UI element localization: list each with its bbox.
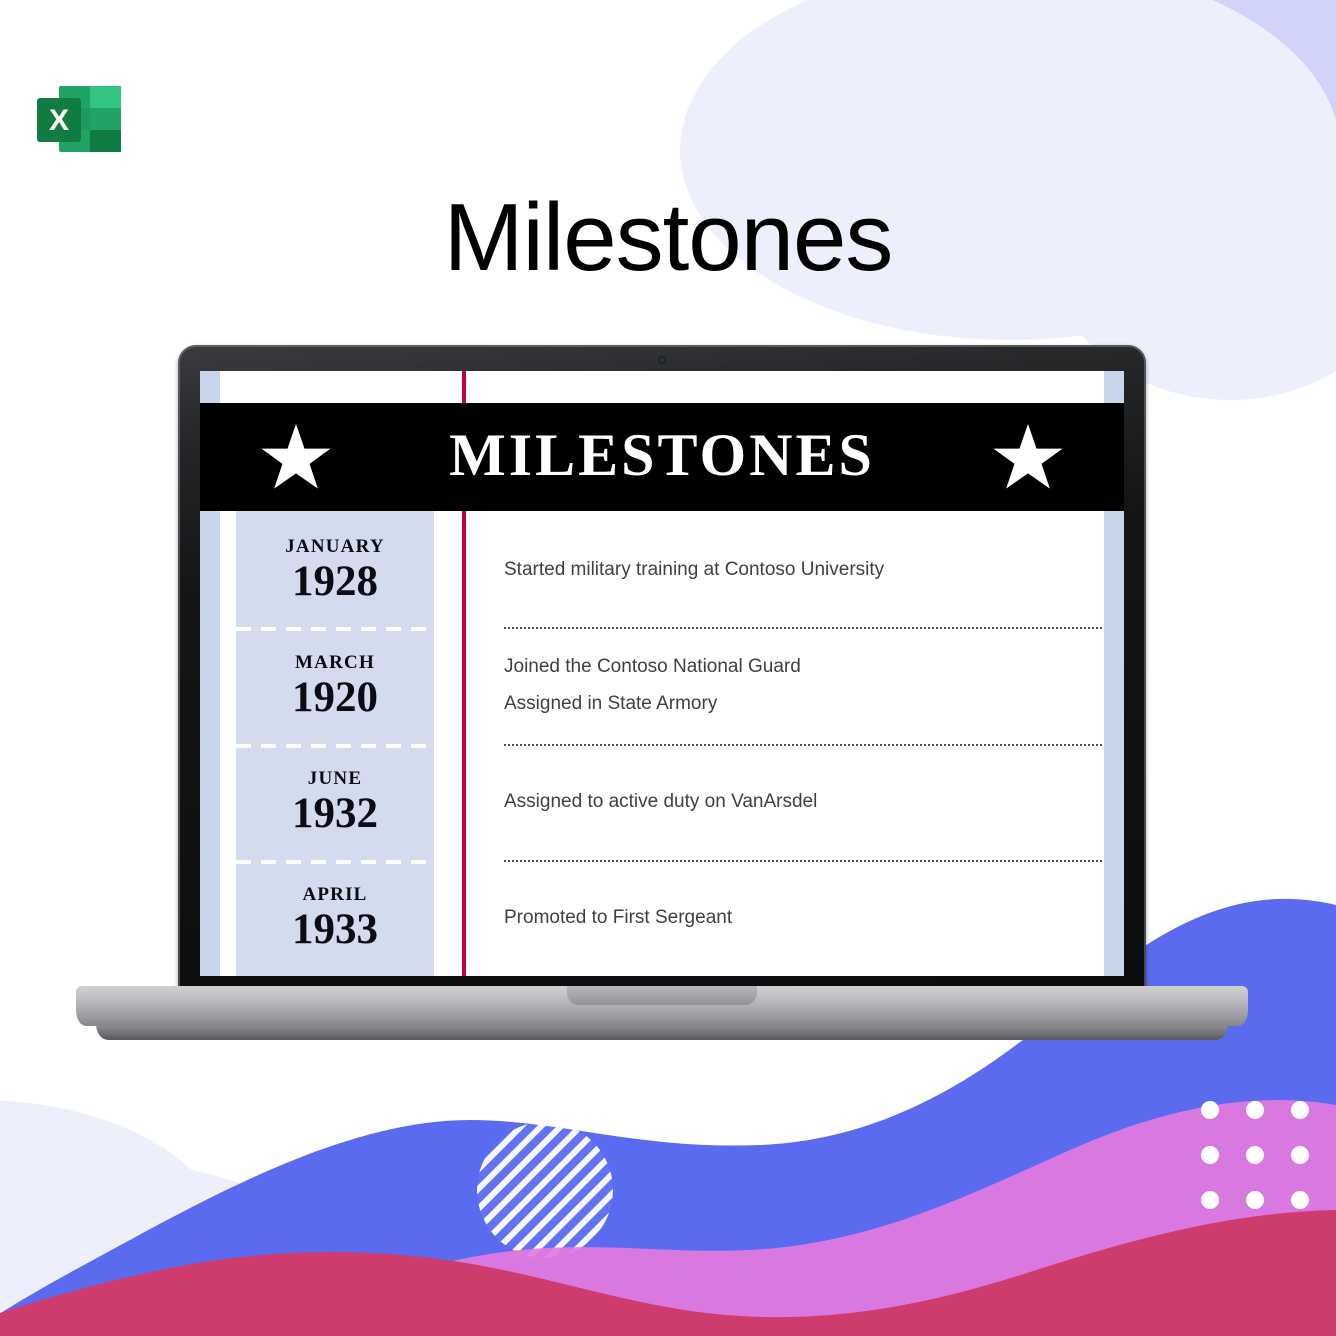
svg-text:X: X [49, 104, 69, 137]
star-icon-left [260, 422, 332, 492]
milestones-slide: MILESTONES JANUARY 1928 [200, 371, 1124, 976]
event-cell: Joined the Contoso National Guard Assign… [504, 627, 1102, 743]
star-icon-right [992, 422, 1064, 492]
laptop-base-top [76, 986, 1248, 1026]
event-cell: Promoted to First Sergeant [504, 860, 1102, 976]
date-cell: MARCH 1920 [236, 627, 434, 743]
date-cell: JUNE 1932 [236, 744, 434, 860]
date-rail: JANUARY 1928 MARCH 1920 JUNE 1932 APRI [236, 511, 434, 976]
rail-gap [434, 511, 462, 976]
date-cell: JANUARY 1928 [236, 511, 434, 627]
event-text: Assigned in State Armory [504, 685, 1102, 722]
event-text: Joined the Contoso National Guard [504, 648, 1102, 685]
event-text: Assigned to active duty on VanArsdel [504, 783, 1102, 820]
laptop-base-shadow [96, 1024, 1228, 1040]
date-cell: APRIL 1933 [236, 860, 434, 976]
date-month: MARCH [295, 652, 375, 674]
event-cell: Started military training at Contoso Uni… [504, 511, 1102, 627]
event-cell: Assigned to active duty on VanArsdel [504, 744, 1102, 860]
date-month: JANUARY [285, 536, 385, 558]
slide-banner: MILESTONES [200, 403, 1124, 511]
date-month: JUNE [308, 768, 362, 790]
webcam-icon [658, 356, 666, 364]
date-year: 1933 [292, 908, 378, 951]
excel-icon: X [33, 76, 127, 162]
date-year: 1928 [292, 560, 378, 603]
page-title: Milestones [0, 188, 1336, 289]
events-list: Started military training at Contoso Uni… [466, 511, 1124, 976]
banner-title: MILESTONES [332, 425, 992, 489]
laptop-base-notch [567, 986, 757, 1005]
date-year: 1932 [292, 792, 378, 835]
laptop-lid: MILESTONES JANUARY 1928 [178, 345, 1146, 990]
laptop-screen: MILESTONES JANUARY 1928 [200, 371, 1124, 976]
event-text: Started military training at Contoso Uni… [504, 551, 1102, 588]
laptop-mockup: MILESTONES JANUARY 1928 [68, 345, 1256, 1055]
date-month: APRIL [302, 884, 367, 906]
slide-body: JANUARY 1928 MARCH 1920 JUNE 1932 APRI [200, 511, 1124, 976]
date-year: 1920 [292, 676, 378, 719]
event-text: Promoted to First Sergeant [504, 899, 1102, 936]
laptop-base [68, 986, 1256, 1048]
